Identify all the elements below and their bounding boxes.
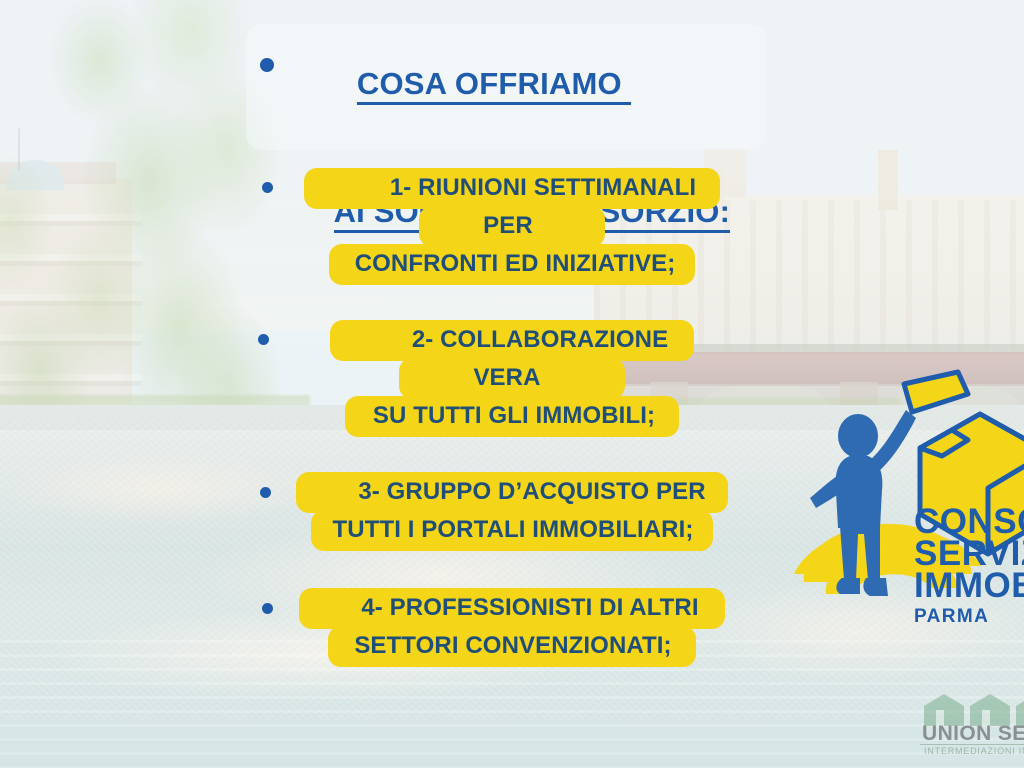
list-item-line: CONFRONTI ED INIZIATIVE; <box>0 244 1024 285</box>
list-item-line: 2- COLLABORAZIONE <box>0 320 1024 361</box>
highlighted-text: SETTORI CONVENZIONATI; <box>328 626 695 667</box>
highlighted-text: VERA <box>399 358 624 399</box>
list-item-line: PER <box>0 206 1024 247</box>
highlighted-text: TUTTI I PORTALI IMMOBILIARI; <box>311 510 714 551</box>
highlighted-text: SU TUTTI GLI IMMOBILI; <box>345 396 679 437</box>
watermark-subtitle: INTERMEDIAZIONI IMMO <box>924 746 1024 756</box>
highlighted-text: 3- GRUPPO D’ACQUISTO PER <box>296 472 727 513</box>
logo-wordmark: CONSO SERVIZ IMMOB PARMA <box>914 506 1024 625</box>
bullet-dot-icon <box>262 182 273 193</box>
consorzio-logo: CONSO SERVIZ IMMOB PARMA <box>792 368 1024 628</box>
flag-icon <box>904 372 968 412</box>
watermark-divider <box>920 744 1024 745</box>
union-service-watermark: UNION SERV INTERMEDIAZIONI IMMO <box>918 694 1024 768</box>
bullet-dot-icon <box>262 603 273 614</box>
highlighted-text: 2- COLLABORAZIONE <box>330 320 694 361</box>
logo-line-3: IMMOB <box>914 570 1024 602</box>
highlighted-text: PER <box>419 206 605 247</box>
list-item: 1- RIUNIONI SETTIMANALI PER CONFRONTI ED… <box>0 168 1024 296</box>
bullet-dot-icon <box>258 334 269 345</box>
list-item-line: 1- RIUNIONI SETTIMANALI <box>0 168 1024 209</box>
logo-line-4: PARMA <box>914 608 1024 625</box>
list-item-text: 1- RIUNIONI SETTIMANALI PER CONFRONTI ED… <box>0 168 1024 285</box>
title-line-1-text: COSA OFFRIAMO <box>357 66 631 105</box>
highlighted-text: 4- PROFESSIONISTI DI ALTRI <box>299 588 724 629</box>
highlighted-text: 1- RIUNIONI SETTIMANALI <box>304 168 720 209</box>
highlighted-text: CONFRONTI ED INIZIATIVE; <box>329 244 696 285</box>
list-item-line: SETTORI CONVENZIONATI; <box>0 626 1024 667</box>
watermark-title: UNION SERV <box>922 722 1024 746</box>
bullet-dot-icon <box>260 487 271 498</box>
presentation-slide: COSA OFFRIAMO AI SOCI DEL CONSORZIO: 1- … <box>0 0 1024 768</box>
title-line-1: COSA OFFRIAMO <box>246 24 766 143</box>
